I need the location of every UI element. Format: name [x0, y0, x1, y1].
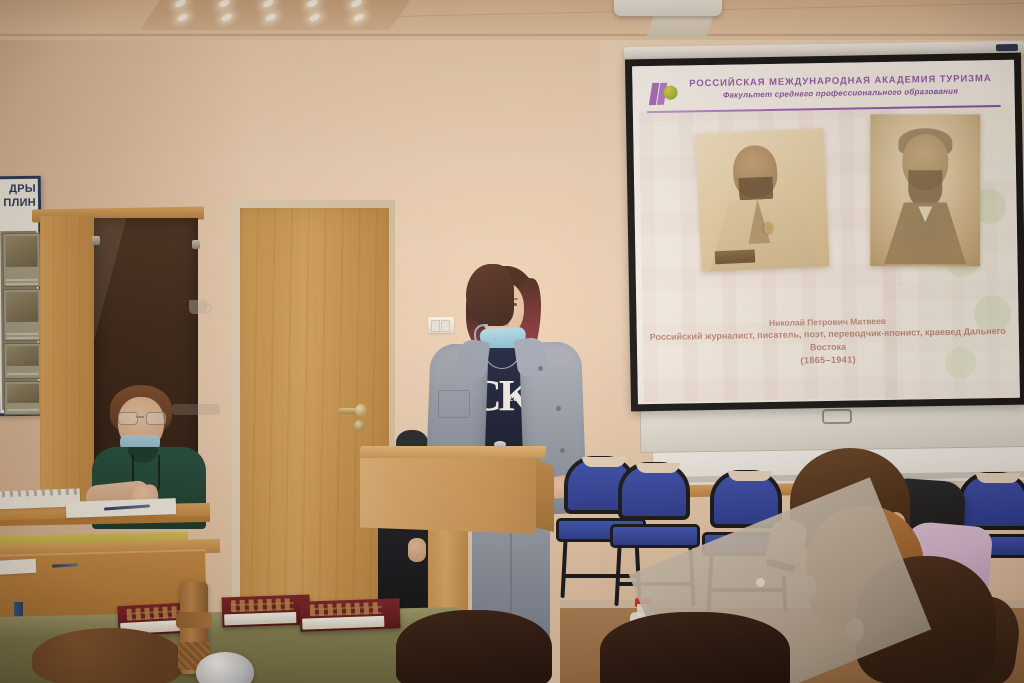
ceiling-projector-icon — [614, 0, 722, 16]
jacket-button-icon-2 — [556, 406, 561, 411]
microphone-icon — [494, 441, 506, 448]
rmat-logo-icon — [648, 81, 678, 108]
podium-body — [360, 452, 536, 534]
ceiling-lamp-icon — [140, 0, 414, 30]
presentation-slide: РОССИЙСКАЯ МЕЖДУНАРОДНАЯ АКАДЕМИЯ ТУРИЗМ… — [632, 60, 1020, 405]
door-wood-grain — [240, 208, 389, 620]
wall-board-title-line-2: ПЛИН — [0, 197, 36, 211]
ceiling-seam — [0, 34, 1024, 36]
chair-backrest — [958, 472, 1024, 530]
book-gold-lettering — [310, 602, 382, 617]
slide-header: РОССИЙСКАЯ МЕЖДУНАРОДНАЯ АКАДЕМИЯ ТУРИЗМ… — [644, 74, 1002, 107]
book-pages — [302, 616, 384, 630]
classroom-presentation-photo: РОССИЙСКАЯ МЕЖДУНАРОДНАЯ АКАДЕМИЯ ТУРИЗМ… — [0, 0, 1024, 683]
wall-board-title-line-1: ДРЫ — [0, 183, 36, 197]
slide-portraits — [645, 113, 1006, 315]
book-gold-lettering — [230, 598, 294, 612]
presenter-jacket-collar-left — [456, 338, 491, 380]
portrait-right — [870, 114, 980, 266]
desk-papers-second — [0, 559, 36, 575]
wooden-exhibit-artifact — [32, 628, 182, 683]
jacket-button-icon-3 — [560, 448, 565, 453]
portrait-left — [695, 128, 829, 272]
podium-top-surface — [359, 446, 546, 458]
door-lock-icon[interactable] — [354, 420, 365, 431]
notebook-rings — [0, 488, 80, 497]
projection-screen-surface: РОССИЙСКАЯ МЕЖДУНАРОДНАЯ АКАДЕМИЯ ТУРИЗМ… — [632, 60, 1020, 405]
classroom-door[interactable] — [240, 208, 389, 620]
glasses-icon — [118, 412, 166, 424]
presenter-jacket-pocket — [438, 390, 470, 418]
wall-board-content — [0, 231, 38, 410]
chair-backrest — [618, 462, 690, 520]
cabinet-hinge-top-right-icon — [192, 240, 200, 249]
book-pages — [224, 612, 296, 626]
exhibit-book-2 — [222, 594, 311, 627]
presenter-hair-front — [466, 264, 514, 326]
lamp-bulb-grid — [140, 0, 414, 30]
wall-board-title: ДРЫ ПЛИН — [0, 183, 38, 211]
jacket-button-icon-1 — [538, 366, 543, 371]
screen-pull-handle[interactable] — [822, 409, 852, 424]
cabinet-hinge-top-icon — [92, 236, 100, 245]
exhibit-book-3 — [300, 598, 401, 631]
door-handle-rose-icon — [355, 404, 367, 417]
projector-mount — [646, 14, 714, 38]
slide-caption: Николай Петрович Матвеев Российский журн… — [648, 313, 1007, 371]
audience-student-dark-head — [396, 610, 552, 683]
audience-student-front-head — [600, 612, 790, 683]
slide-header-text: РОССИЙСКАЯ МЕЖДУНАРОДНАЯ АКАДЕМИЯ ТУРИЗМ… — [684, 74, 1002, 102]
desk-fastener-icon — [756, 578, 765, 587]
cabinet-cup — [189, 300, 207, 314]
chair-seat — [610, 524, 700, 548]
roller-end-cap — [996, 44, 1018, 51]
projection-screen: РОССИЙСКАЯ МЕЖДУНАРОДНАЯ АКАДЕМИЯ ТУРИЗМ… — [625, 53, 1024, 412]
